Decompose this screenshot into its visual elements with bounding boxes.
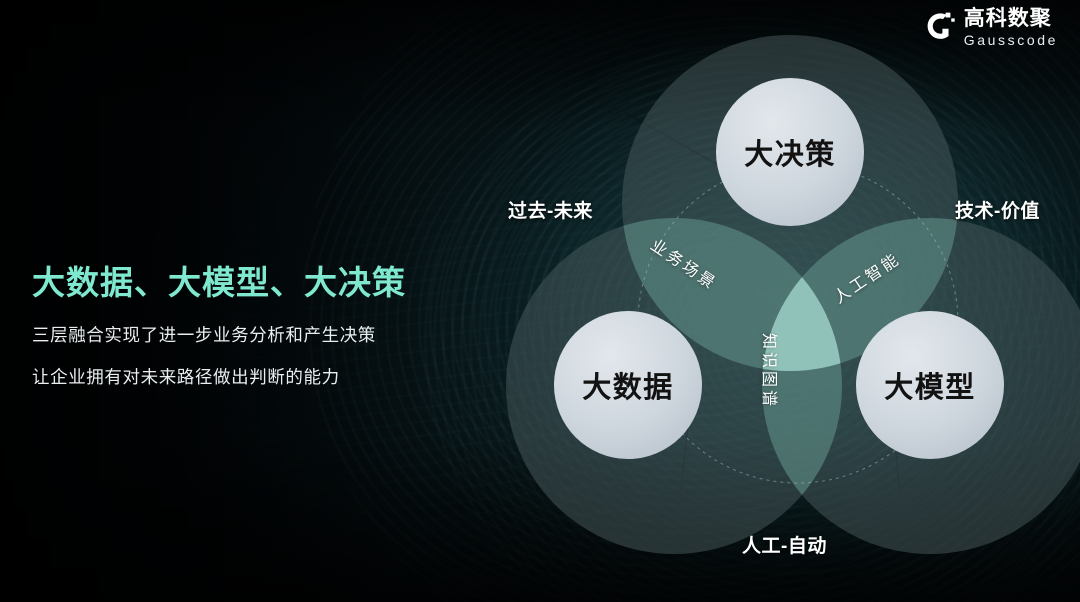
axis-label-manual-auto: 人工-自动: [742, 531, 827, 558]
axis-label-tech-value: 技术-价值: [955, 196, 1040, 223]
intersection-label-knowledge-graph: 知识图谱: [759, 333, 783, 409]
circle-label-decision: 大决策: [744, 131, 836, 173]
venn-diagram: [498, 18, 1068, 538]
copy-block: 大数据、大模型、大决策 三层融合实现了进一步业务分析和产生决策 让企业拥有对未来…: [32, 256, 472, 406]
circle-label-bigmodel: 大模型: [884, 364, 976, 406]
slide-canvas: 高科数聚 Gausscode 大数据、大模型、大决策 三层融合实现了进一步业务分…: [0, 0, 1080, 602]
circle-label-bigdata: 大数据: [582, 364, 674, 406]
page-title: 大数据、大模型、大决策: [32, 256, 472, 304]
axis-label-past-future: 过去-未来: [508, 196, 593, 223]
copy-line-2: 让企业拥有对未来路径做出判断的能力: [32, 364, 472, 389]
copy-line-1: 三层融合实现了进一步业务分析和产生决策: [32, 322, 472, 347]
